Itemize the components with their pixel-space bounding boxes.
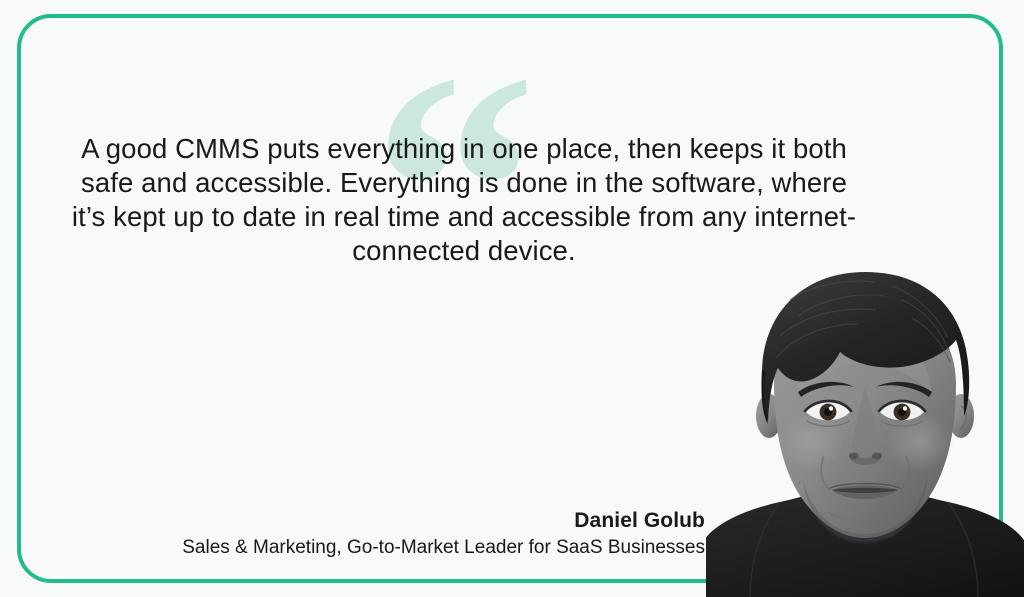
author-name: Daniel Golub	[60, 508, 705, 534]
quote-text: A good CMMS puts everything in one place…	[64, 132, 864, 268]
author-role: Sales & Marketing, Go-to-Market Leader f…	[60, 534, 705, 562]
testimonial-card: “ A good CMMS puts everything in one pla…	[0, 0, 1024, 597]
author-portrait-photo	[706, 266, 1024, 597]
attribution: Daniel Golub Sales & Marketing, Go-to-Ma…	[60, 508, 705, 562]
